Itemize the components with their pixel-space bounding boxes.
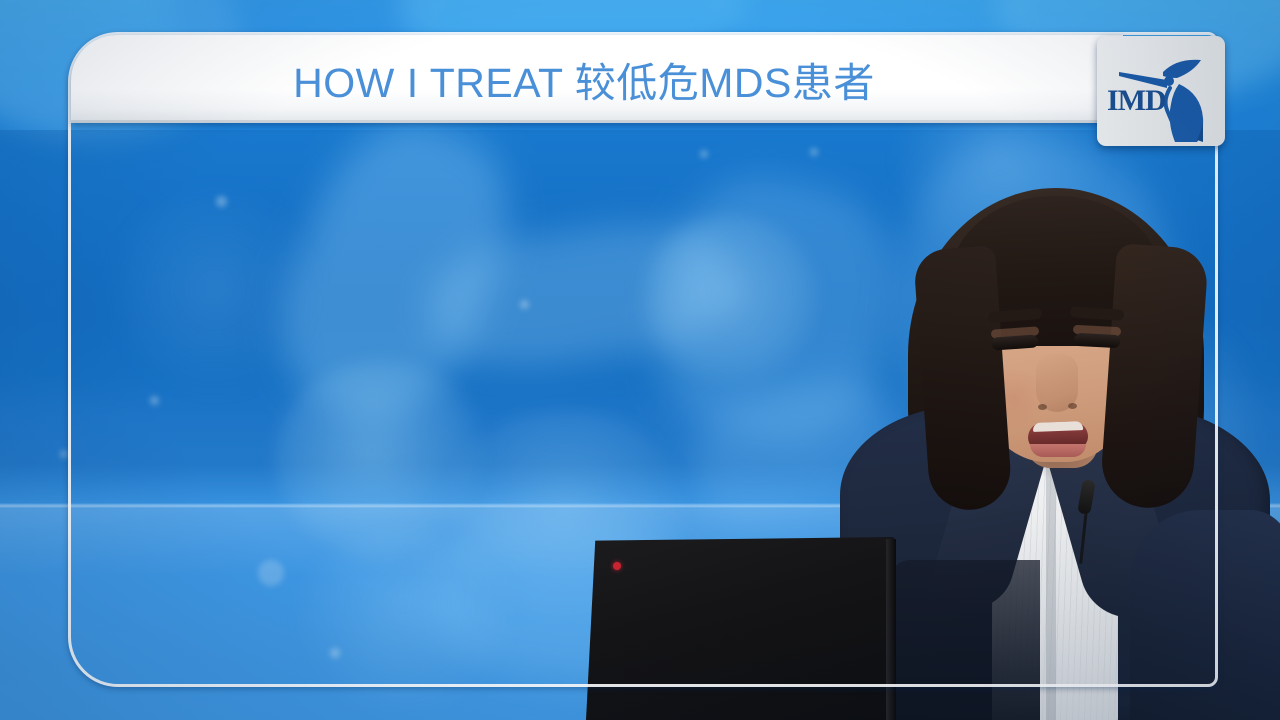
background-bokeh-dot [520,300,529,309]
background-bokeh-dot [60,450,68,458]
page-title: HOW I TREAT 较低危MDS患者 [71,35,1097,123]
laptop-indicator-icon [613,562,621,570]
imd-logo-badge[interactable]: IMD [1097,36,1225,146]
background-bokeh-dot [330,648,340,658]
presenter-eye-right [1074,333,1121,348]
background-bokeh-dot [810,148,818,156]
presenter-blouse-placket [1046,450,1056,720]
presenter-hair-right [1099,243,1209,511]
desk-surface [890,560,1040,720]
background-bokeh-dot [216,196,227,207]
background-bokeh-dot [700,150,708,158]
presenter-teeth [1033,421,1083,432]
logo-text: IMD [1107,84,1166,118]
background-bokeh-dot [258,560,284,586]
presenter-nostril-left [1038,404,1047,410]
laptop-lid-edge [886,539,896,720]
video-frame-stage: HOW I TREAT 较低危MDS患者 IMD [0,0,1280,720]
laptop-lid [586,537,894,720]
background-bokeh-dot [150,396,159,405]
presenter-lower-lip [1030,444,1086,457]
presenter-nostril-right [1068,403,1077,409]
presenter-arm-right [1130,510,1280,720]
